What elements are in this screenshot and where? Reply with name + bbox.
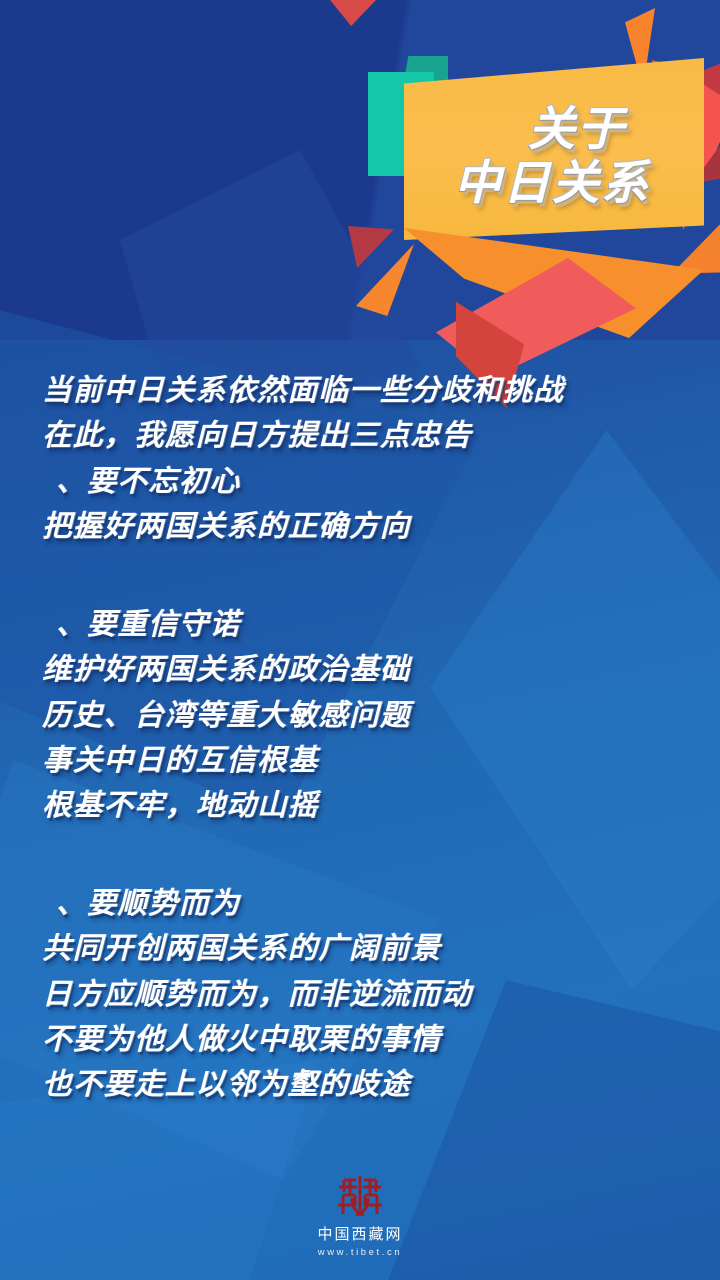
text-line-heading: 、要顺势而为 (42, 881, 682, 926)
text-line: 当前中日关系依然面临一些分歧和挑战 (42, 368, 682, 413)
text-line: 历史、台湾等重大敏感问题 (42, 693, 682, 738)
text-line-heading: 、要重信守诺 (42, 602, 682, 647)
text-line: 在此，我愿向日方提出三点忠告 (42, 413, 682, 458)
text-paragraph: 、要顺势而为共同开创两国关系的广阔前景日方应顺势而为，而非逆流而动不要为他人做火… (42, 881, 682, 1108)
text-line: 事关中日的互信根基 (42, 738, 682, 783)
body-text-block: 当前中日关系依然面临一些分歧和挑战在此，我愿向日方提出三点忠告、要不忘初心把握好… (42, 368, 682, 1108)
text-line: 共同开创两国关系的广阔前景 (42, 926, 682, 971)
footer: 中国西藏网 www.tibet.cn (0, 1174, 720, 1258)
text-paragraph: 当前中日关系依然面临一些分歧和挑战在此，我愿向日方提出三点忠告、要不忘初心把握好… (42, 368, 682, 550)
text-paragraph: 、要重信守诺维护好两国关系的政治基础历史、台湾等重大敏感问题事关中日的互信根基根… (42, 602, 682, 829)
poster-canvas: 关于 中日关系 当前中日关系依然面临一些分歧和挑战在此，我愿向日方提出三点忠告、… (0, 0, 720, 1280)
title-line-2: 中日关系 (454, 158, 650, 208)
text-line-heading: 、要不忘初心 (42, 459, 682, 504)
page-title: 关于 中日关系 (404, 76, 704, 236)
text-line: 根基不牢，地动山摇 (42, 783, 682, 828)
title-line-1: 关于 (528, 104, 626, 154)
site-name: 中国西藏网 (317, 1226, 402, 1244)
text-line: 不要为他人做火中取栗的事情 (42, 1017, 682, 1062)
text-line: 也不要走上以邻为壑的歧途 (42, 1062, 682, 1107)
text-line: 维护好两国关系的政治基础 (42, 647, 682, 692)
decor-triangle-darkred-3 (348, 226, 394, 268)
text-line: 把握好两国关系的正确方向 (42, 504, 682, 549)
text-line: 日方应顺势而为，而非逆流而动 (42, 972, 682, 1017)
tibet-seal-logo-icon (335, 1174, 385, 1220)
site-url: www.tibet.cn (318, 1247, 403, 1258)
decor-triangle-red-top (330, 0, 376, 26)
